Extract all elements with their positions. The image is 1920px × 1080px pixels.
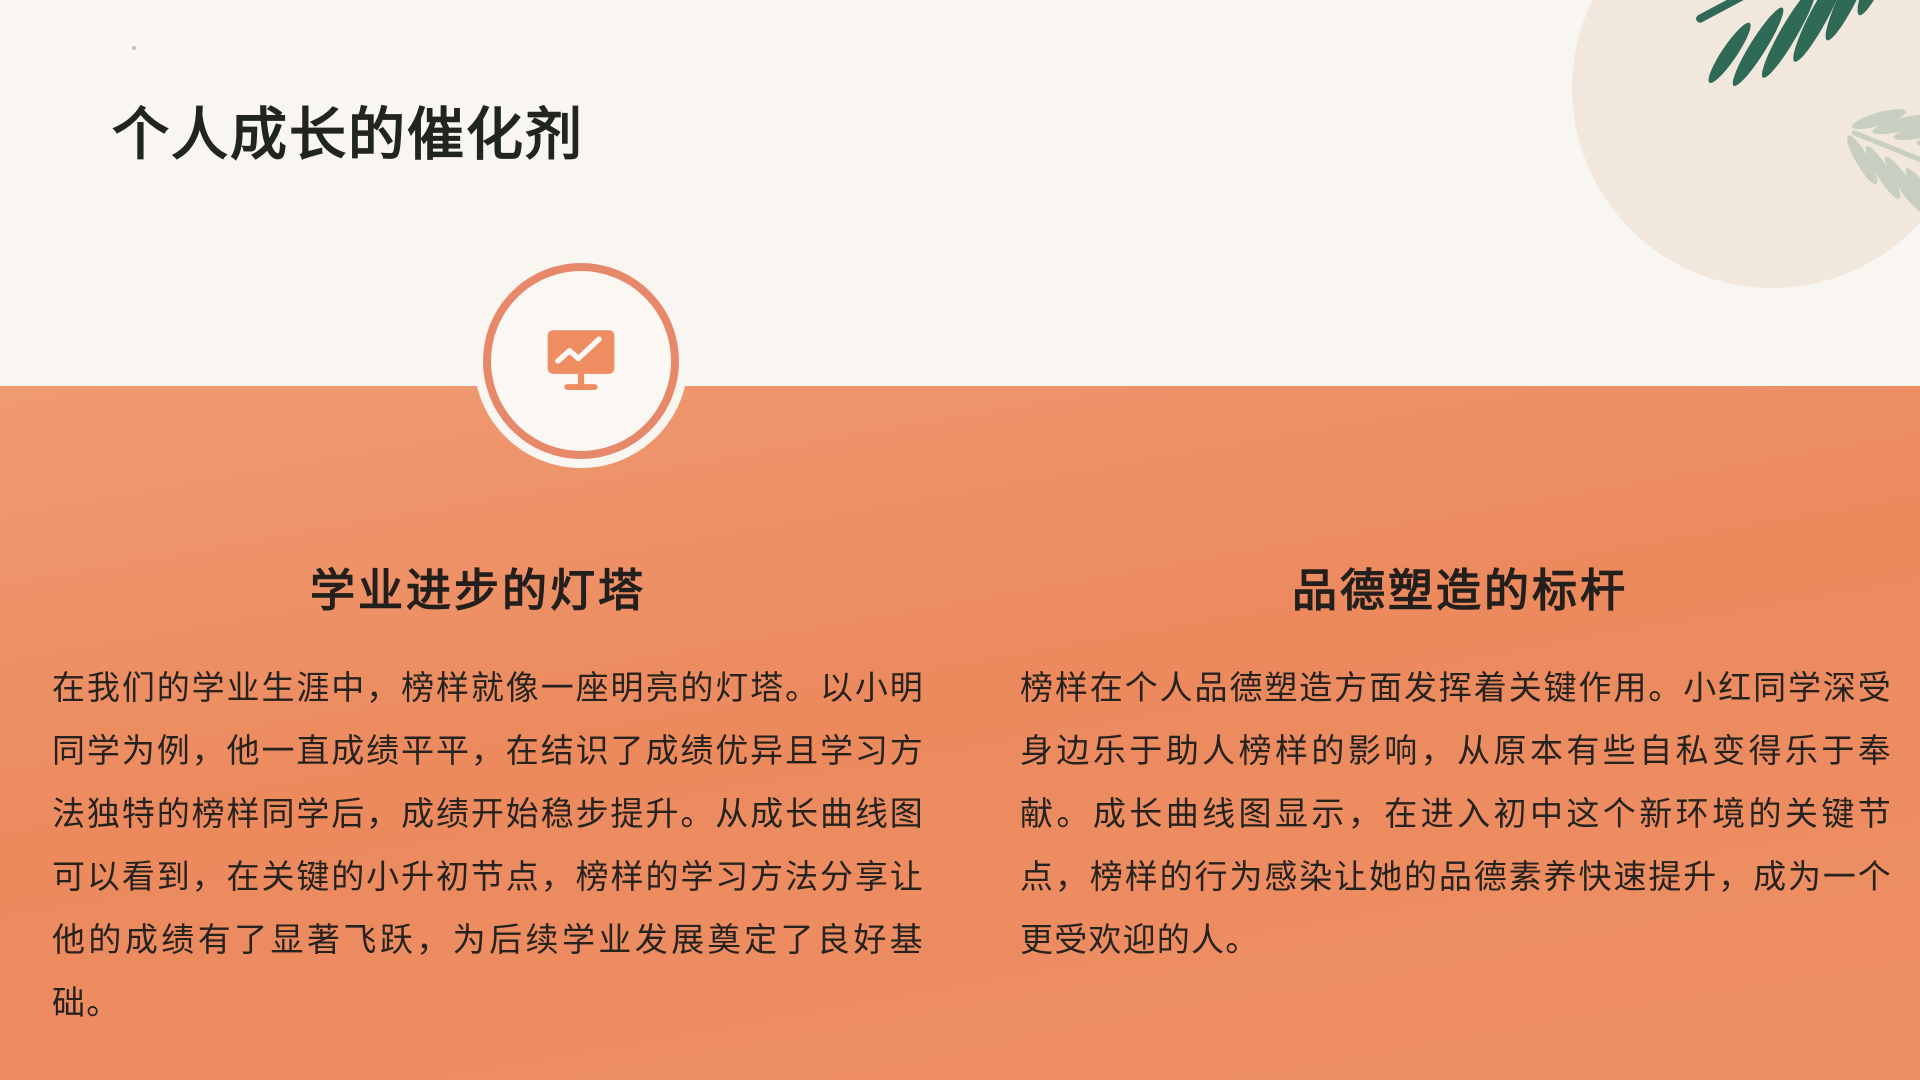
column-body-text: 在我们的学业生涯中，榜样就像一座明亮的灯塔。以小明同学为例，他一直成绩平平，在结… [52, 658, 924, 1036]
column-character: 品德塑造的标杆 榜样在个人品德塑造方面发挥着关键作用。小红同学深受身边乐于助人榜… [1020, 0, 1900, 1080]
column-body-text: 榜样在个人品德塑造方面发挥着关键作用。小红同学深受身边乐于助人榜样的影响，从原本… [1020, 658, 1892, 973]
presentation-chart-icon [474, 254, 688, 468]
column-heading: 学业进步的灯塔 [38, 554, 918, 619]
slide-root: 个人成长的催化剂 学业进步的灯塔 在我们的学业生涯中，榜样就像一座明亮的灯塔。以… [0, 0, 1920, 1080]
column-heading: 品德塑造的标杆 [1020, 554, 1900, 619]
page-title: 个人成长的催化剂 [112, 100, 584, 171]
icon-badge-left [474, 254, 688, 468]
title-dot-accent [132, 46, 136, 50]
